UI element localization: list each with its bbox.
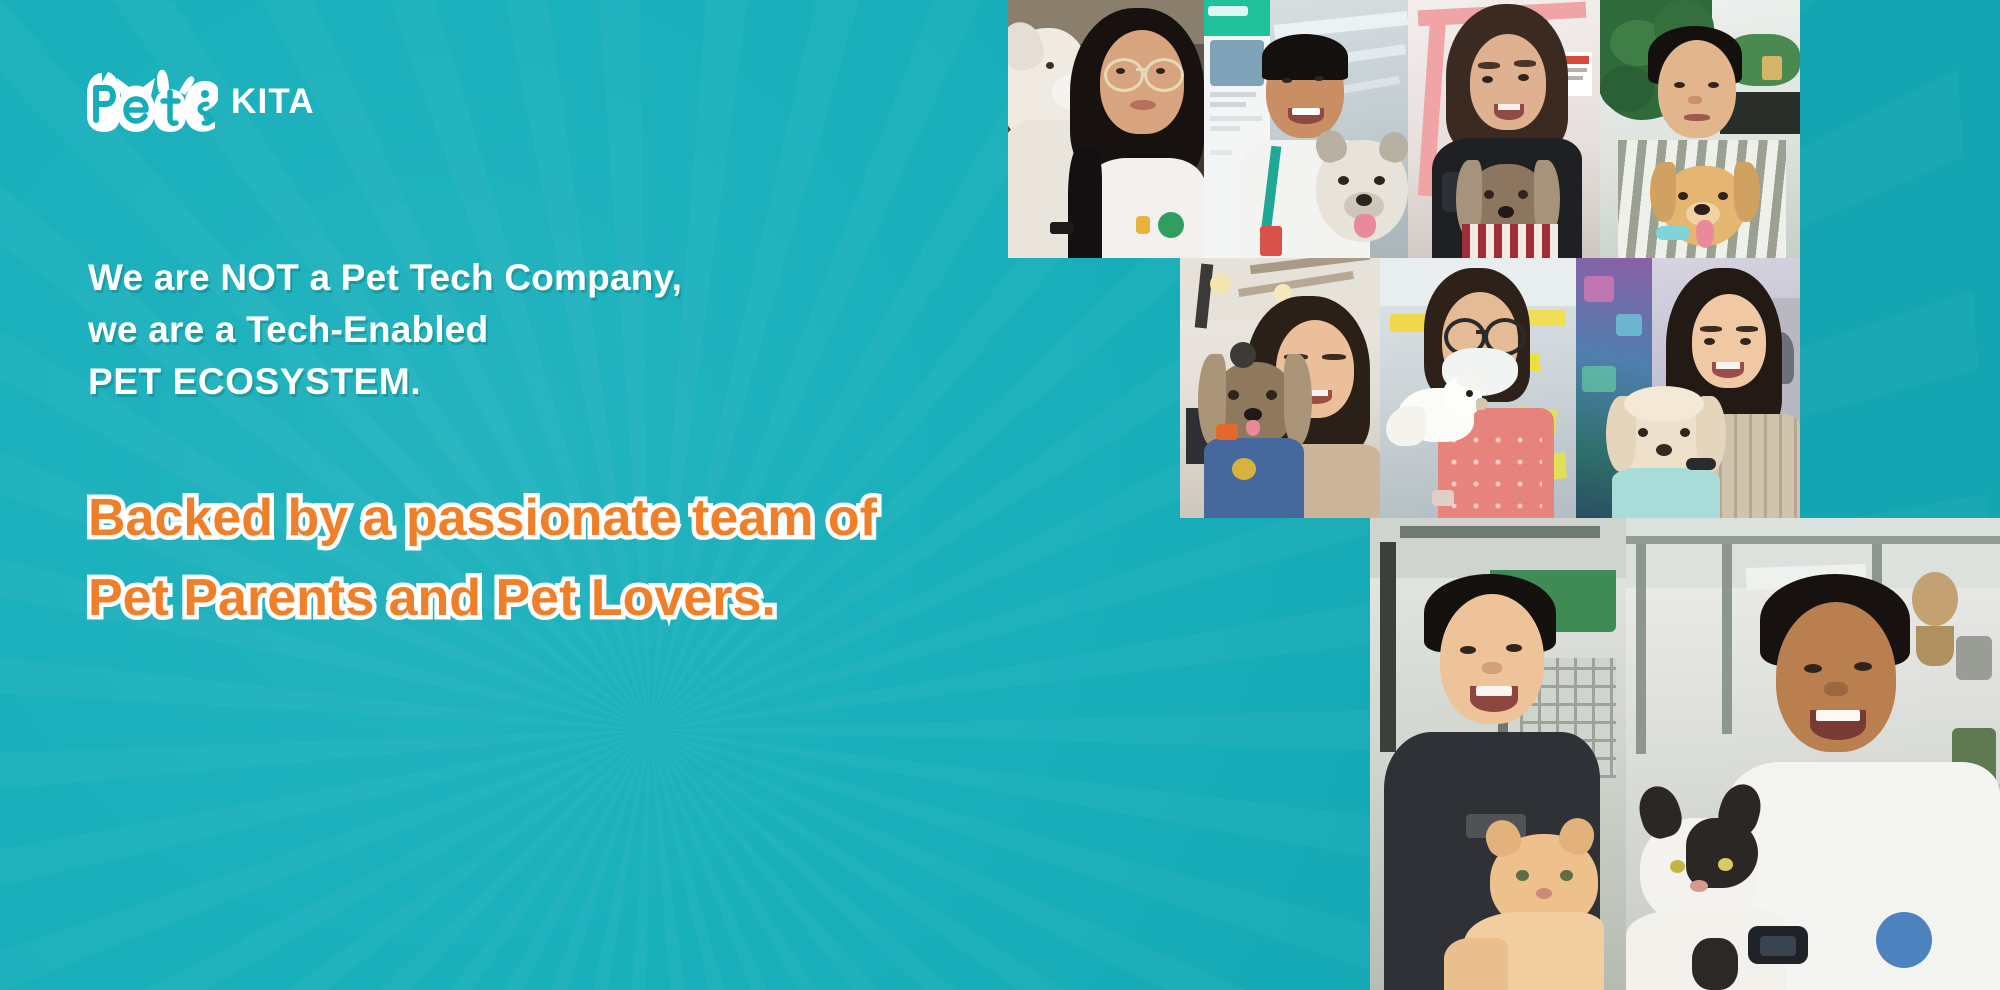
brand-logo[interactable]: KITA [82,68,315,134]
banner-canvas: KITA We are NOT a Pet Tech Company, we a… [0,0,2000,990]
collage-photo-3[interactable] [1408,0,1600,258]
headline-secondary: Backed by a passionate team of Pet Paren… [88,478,1088,638]
headline-line-1: We are NOT a Pet Tech Company, [88,252,988,304]
collage-photo-6[interactable] [1380,258,1576,518]
collage-photo-8[interactable] [1370,518,1626,990]
subheadline-line-1: Backed by a passionate team of [88,478,1088,558]
collage-photo-1[interactable] [1008,0,1204,258]
headline-line-2: we are a Tech-Enabled [88,304,988,356]
pets-animal-heads-logo-icon [82,68,218,134]
headline-primary: We are NOT a Pet Tech Company, we are a … [88,252,988,408]
collage-photo-4[interactable] [1600,0,1800,258]
subheadline-line-2: Pet Parents and Pet Lovers. [88,558,1088,638]
brand-wordmark: KITA [231,84,315,119]
collage-photo-5[interactable] [1180,258,1380,518]
headline-line-3: PET ECOSYSTEM. [88,356,988,408]
collage-photo-7[interactable] [1576,258,1800,518]
collage-photo-2[interactable] [1204,0,1408,258]
collage-photo-9[interactable] [1626,518,2000,990]
